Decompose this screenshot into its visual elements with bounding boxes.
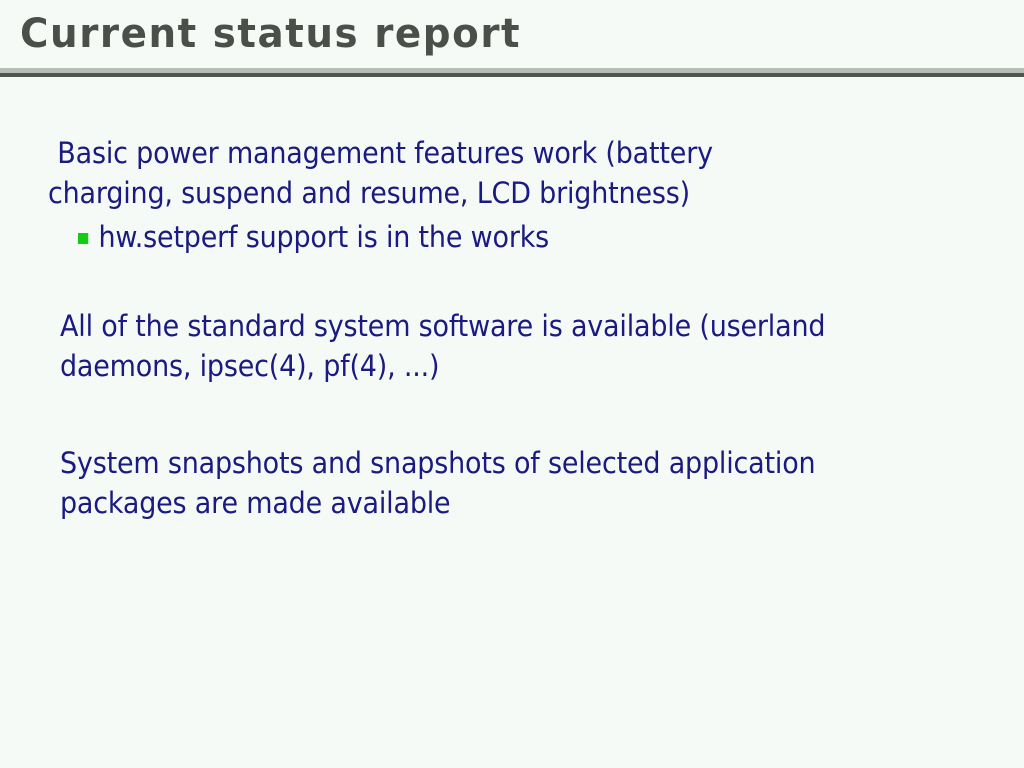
list-item: hw.setperf support is in the works bbox=[78, 217, 549, 257]
content-line: packages are made available bbox=[60, 483, 971, 523]
green-square-bullet-icon bbox=[78, 233, 88, 244]
page-title: Current status report bbox=[20, 8, 521, 60]
list-item-label: hw.setperf support is in the works bbox=[98, 217, 549, 257]
content-line: daemons, ipsec(4), pf(4), ...) bbox=[60, 346, 971, 386]
title-divider bbox=[0, 68, 1024, 77]
content-block-standard-system-software: All of the standard system software is a… bbox=[60, 306, 971, 386]
content-block-power-management: Basic power management features work (ba… bbox=[48, 133, 959, 213]
slide-title-area: Current status report bbox=[0, 0, 1024, 68]
content-line: charging, suspend and resume, LCD bright… bbox=[48, 173, 959, 213]
content-line: Basic power management features work (ba… bbox=[48, 133, 959, 173]
content-line: All of the standard system software is a… bbox=[60, 306, 971, 346]
content-block-snapshots: System snapshots and snapshots of select… bbox=[60, 443, 971, 523]
slide-body: Basic power management features work (ba… bbox=[0, 77, 1024, 768]
content-line: System snapshots and snapshots of select… bbox=[60, 443, 971, 483]
presentation-slide: Current status report Basic power manage… bbox=[0, 0, 1024, 768]
